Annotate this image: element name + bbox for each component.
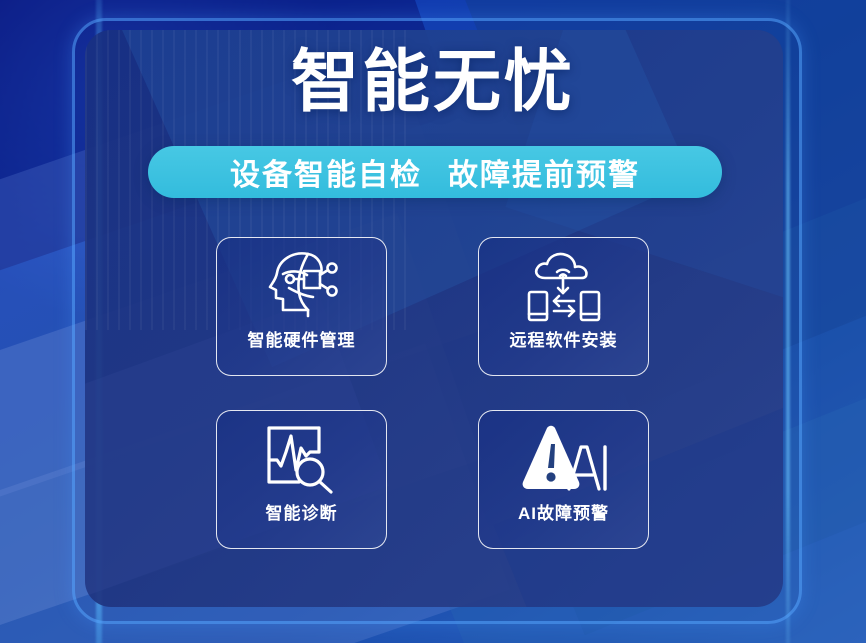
feature-card-smart-diagnosis[interactable]: 智能诊断 bbox=[216, 410, 387, 549]
cloud-devices-transfer-icon bbox=[523, 242, 605, 328]
warning-triangle-ai-icon bbox=[521, 415, 607, 501]
feature-card-label: 远程软件安装 bbox=[510, 326, 618, 351]
feature-card-ai-fault-warning[interactable]: AI故障预警 bbox=[478, 410, 649, 549]
feature-card-label: 智能硬件管理 bbox=[248, 326, 356, 351]
feature-card-smart-hardware-management[interactable]: 智能硬件管理 bbox=[216, 237, 387, 376]
ai-head-circuit-icon bbox=[263, 242, 341, 328]
poster-stage: 智能无忧 设备智能自检故障提前预警 bbox=[0, 0, 866, 643]
feature-card-label: 智能诊断 bbox=[266, 499, 338, 524]
feature-card-label: AI故障预警 bbox=[518, 499, 609, 524]
waveform-magnifier-icon bbox=[263, 415, 341, 501]
feature-card-grid: 智能硬件管理 bbox=[0, 0, 866, 643]
feature-card-remote-software-install[interactable]: 远程软件安装 bbox=[478, 237, 649, 376]
